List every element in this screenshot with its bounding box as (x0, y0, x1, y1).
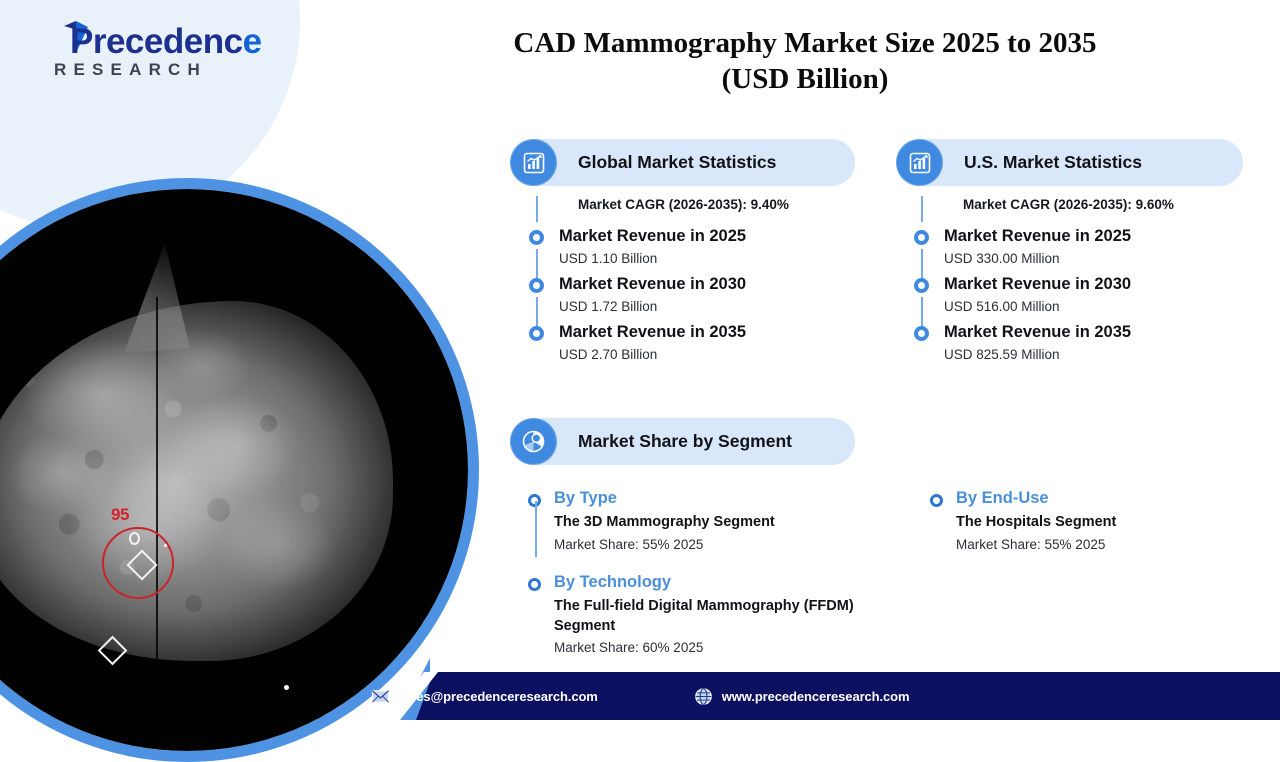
segment-by-end-use-title: By End-Use (956, 489, 1270, 507)
brand-subtitle: RESEARCH (54, 60, 207, 80)
footer-contents: sales@precedenceresearch.com www.precede… (0, 672, 1280, 720)
segment-by-end-use-share: Market Share: 55% 2025 (956, 537, 1270, 552)
segment-by-technology-name: The Full-field Digital Mammography (FFDM… (554, 597, 873, 636)
brand-logo: Precedence RESEARCH (22, 18, 272, 88)
bullet-ring-icon (529, 278, 544, 293)
section-title-global: Global Market Statistics (578, 152, 776, 173)
cad-finding-small-ring (129, 532, 140, 545)
stat-label: Market Revenue in 2035 (559, 323, 858, 341)
segment-by-type-body: The 3D Mammography Segment Market Share:… (528, 513, 873, 552)
bullet-ring-icon (914, 278, 929, 293)
section-header-segment: Market Share by Segment (510, 418, 855, 465)
section-header-us: U.S. Market Statistics (896, 139, 1243, 186)
timeline-connector (536, 196, 538, 222)
footer-email-text: sales@precedenceresearch.com (399, 689, 598, 704)
bullet-ring-icon (529, 230, 544, 245)
segment-by-technology-share: Market Share: 60% 2025 (554, 640, 873, 655)
segment-by-type-share: Market Share: 55% 2025 (554, 537, 873, 552)
us-stats-list: Market CAGR (2026-2035): 9.60% Market Re… (913, 190, 1253, 362)
stat-value: USD 1.10 Billion (559, 251, 858, 266)
stat-item: Market Revenue in 2035 USD 825.59 Millio… (913, 323, 1253, 362)
stat-label: Market Revenue in 2030 (559, 275, 858, 293)
segment-by-type-title: By Type (554, 489, 873, 507)
footer-website-text: www.precedenceresearch.com (722, 689, 910, 704)
segment-by-type: By Type The 3D Mammography Segment Marke… (528, 489, 873, 552)
stat-label: Market Revenue in 2025 (944, 227, 1253, 245)
segment-by-technology-header: By Technology (528, 573, 873, 591)
bullet-ring-icon (914, 230, 929, 245)
bar-chart-growth-icon (896, 139, 943, 186)
timeline-connector (921, 196, 923, 222)
pie-chart-search-icon (510, 418, 557, 465)
segment-by-type-header: By Type (528, 489, 873, 507)
global-cagr-text: Market CAGR (2026-2035): 9.40% (578, 197, 789, 212)
brand-wordmark-tail: e (243, 22, 262, 61)
bullet-ring-icon (529, 326, 544, 341)
segment-by-technology-body: The Full-field Digital Mammography (FFDM… (528, 597, 873, 655)
segment-by-type-name: The 3D Mammography Segment (554, 513, 873, 533)
bullet-ring-icon (914, 326, 929, 341)
envelope-icon (371, 687, 390, 706)
footer-website[interactable]: www.precedenceresearch.com (694, 687, 910, 706)
global-cagr-row: Market CAGR (2026-2035): 9.40% (528, 190, 858, 218)
segment-by-end-use-body: The Hospitals Segment Market Share: 55% … (930, 513, 1270, 552)
stat-value: USD 330.00 Million (944, 251, 1253, 266)
segment-by-end-use: By End-Use The Hospitals Segment Market … (930, 489, 1270, 552)
page-title-line-1: CAD Mammography Market Size 2025 to 2035 (330, 26, 1280, 62)
page-title-line-2: (USD Billion) (330, 62, 1280, 98)
stat-item: Market Revenue in 2035 USD 2.70 Billion (528, 323, 858, 362)
stat-item: Market Revenue in 2025 USD 1.10 Billion (528, 227, 858, 266)
brand-wordmark: Precedence (70, 22, 262, 62)
stat-item: Market Revenue in 2025 USD 330.00 Millio… (913, 227, 1253, 266)
us-cagr-text: Market CAGR (2026-2035): 9.60% (963, 197, 1174, 212)
stat-label: Market Revenue in 2035 (944, 323, 1253, 341)
stat-item: Market Revenue in 2030 USD 1.72 Billion (528, 275, 858, 314)
brand-wordmark-main: Precedenc (70, 22, 243, 61)
stat-value: USD 516.00 Million (944, 299, 1253, 314)
bullet-ring-icon (528, 578, 541, 591)
segment-by-technology: By Technology The Full-field Digital Mam… (528, 573, 873, 655)
segment-by-end-use-header: By End-Use (930, 489, 1270, 507)
image-split-line (156, 297, 158, 667)
bar-chart-growth-icon (510, 139, 557, 186)
calcification-speck (164, 544, 167, 547)
global-stats-list: Market CAGR (2026-2035): 9.40% Market Re… (528, 190, 858, 362)
us-cagr-row: Market CAGR (2026-2035): 9.60% (913, 190, 1253, 218)
segment-by-technology-title: By Technology (554, 573, 873, 591)
globe-icon (694, 687, 713, 706)
stat-value: USD 825.59 Million (944, 347, 1253, 362)
stat-label: Market Revenue in 2030 (944, 275, 1253, 293)
stat-value: USD 2.70 Billion (559, 347, 858, 362)
bullet-ring-icon (930, 494, 943, 507)
page-title: CAD Mammography Market Size 2025 to 2035… (330, 26, 1280, 97)
stat-value: USD 1.72 Billion (559, 299, 858, 314)
section-header-global: Global Market Statistics (510, 139, 855, 186)
timeline-connector (535, 501, 537, 557)
segment-by-end-use-name: The Hospitals Segment (956, 513, 1270, 533)
breast-tissue-texture (0, 301, 393, 661)
cad-score-label: 95 (111, 505, 129, 525)
section-title-segment: Market Share by Segment (578, 431, 792, 452)
stat-label: Market Revenue in 2025 (559, 227, 858, 245)
stat-item: Market Revenue in 2030 USD 516.00 Millio… (913, 275, 1253, 314)
footer-email[interactable]: sales@precedenceresearch.com (371, 687, 598, 706)
section-title-us: U.S. Market Statistics (964, 152, 1142, 173)
